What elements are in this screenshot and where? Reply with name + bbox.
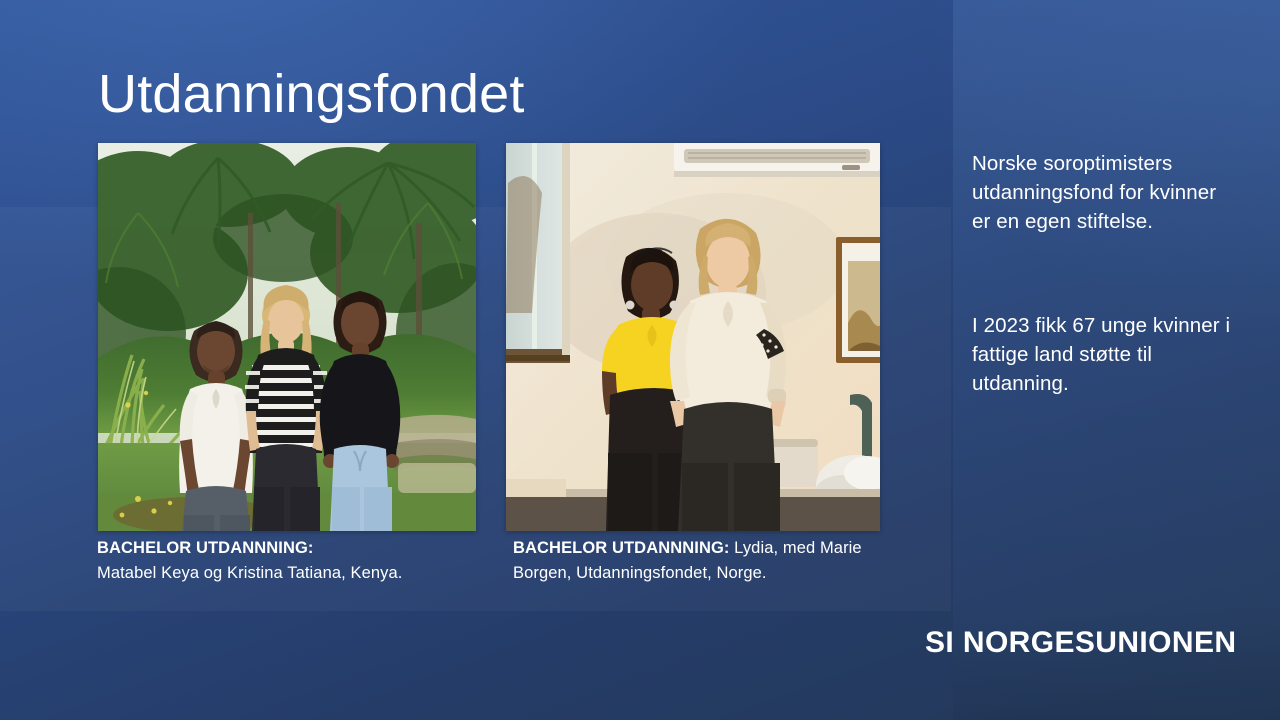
caption-photo-left: BACHELOR UTDANNNING: Matabel Keya og Kri… bbox=[97, 536, 497, 586]
page-title: Utdanningsfondet bbox=[98, 66, 525, 123]
person-left bbox=[179, 321, 253, 531]
brand-label: SI NORGESUNIONEN bbox=[925, 626, 1236, 660]
slide-canvas: Utdanningsfondet bbox=[0, 0, 1280, 720]
photo-kenya-students bbox=[98, 143, 476, 531]
body-paragraph-2: I 2023 fikk 67 unge kvinner i fattige la… bbox=[972, 312, 1232, 399]
window bbox=[506, 143, 570, 363]
body-paragraph-1: Norske soroptimisters utdanningsfond for… bbox=[972, 150, 1232, 237]
photo-lydia-and-marie bbox=[506, 143, 880, 531]
photo-lydia-and-marie-graphic bbox=[506, 143, 880, 531]
photo-kenya-students-graphic bbox=[98, 143, 476, 531]
caption-left-label: BACHELOR UTDANNNING: bbox=[97, 539, 313, 557]
caption-right-label: BACHELOR UTDANNNING: bbox=[513, 539, 729, 557]
framed-picture bbox=[836, 237, 880, 363]
air-conditioner bbox=[674, 143, 880, 177]
caption-left-text: Matabel Keya og Kristina Tatiana, Kenya. bbox=[97, 564, 402, 582]
caption-photo-right: BACHELOR UTDANNNING: Lydia, med Marie Bo… bbox=[513, 536, 893, 586]
